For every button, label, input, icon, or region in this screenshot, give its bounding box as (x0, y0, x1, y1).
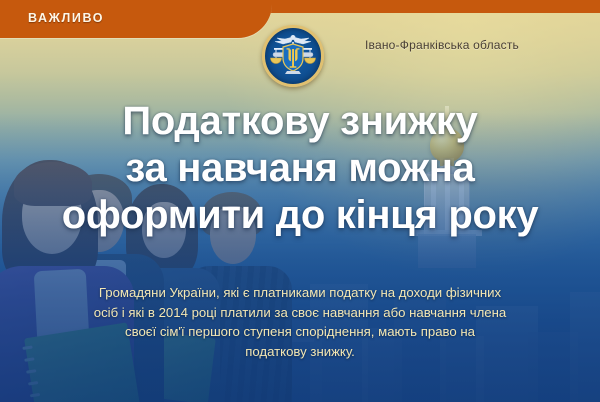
state-fiscal-service-emblem-icon (262, 25, 324, 87)
headline-line-1: Податкову знижку (14, 98, 586, 145)
body-line-1: Громадяни України, які є платниками пода… (22, 283, 578, 303)
important-banner-label: ВАЖЛИВО (28, 11, 104, 25)
body-paragraph: Громадяни України, які є платниками пода… (22, 283, 578, 361)
news-poster: ВАЖЛИВО (0, 0, 600, 402)
body-line-2: осіб і які в 2014 році платили за своє н… (22, 303, 578, 323)
headline: Податкову знижку за навчаня можна оформи… (0, 98, 600, 239)
headline-line-2: за навчаня можна (14, 145, 586, 192)
body-line-4: податкову знижку. (22, 342, 578, 362)
body-line-3: своєї сім'ї першого ступеня споріднення,… (22, 322, 578, 342)
headline-line-3: оформити до кінця року (14, 192, 586, 239)
region-label: Івано-Франківська область (365, 38, 519, 52)
important-banner: ВАЖЛИВО (0, 0, 272, 38)
